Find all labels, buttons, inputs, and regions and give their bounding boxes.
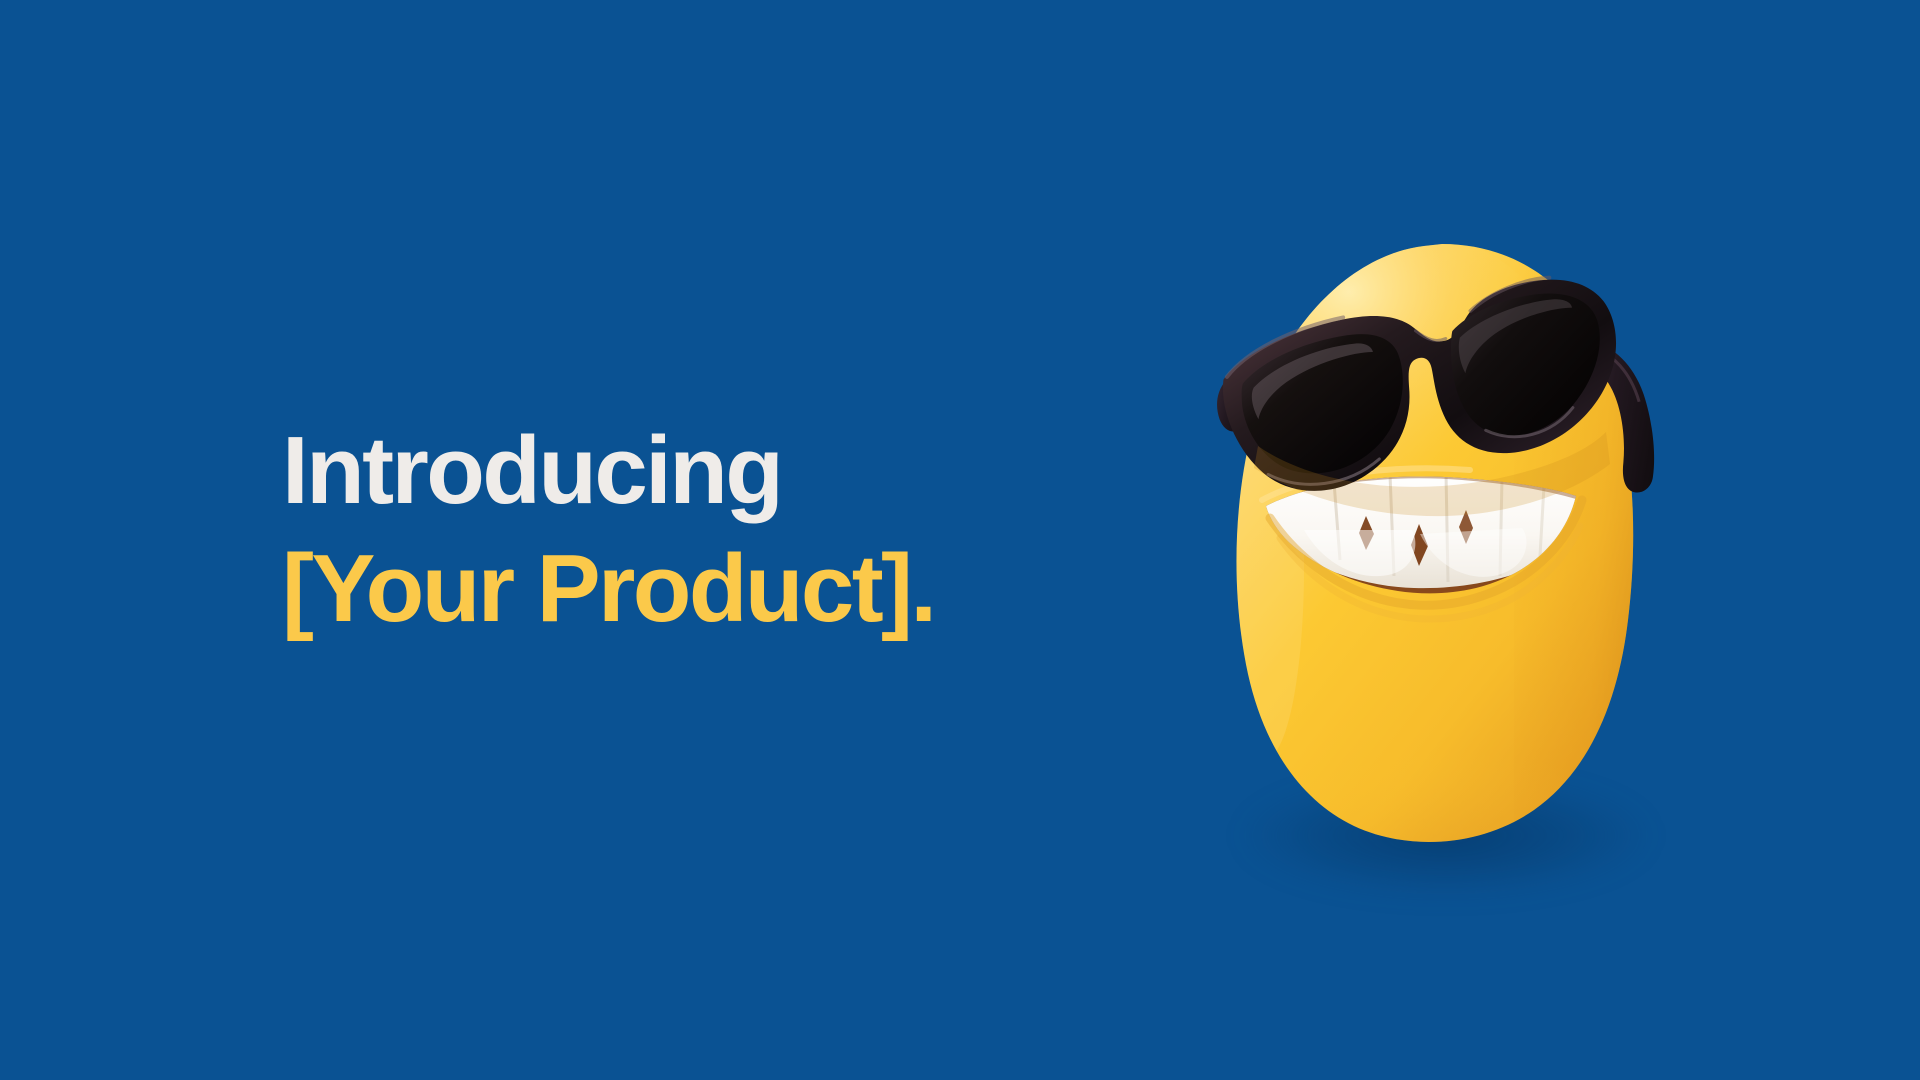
emoji-illustration <box>1214 238 1674 858</box>
smiling-face-with-sunglasses-icon <box>1214 238 1674 858</box>
headline-line-product: [Your Product]. <box>282 530 1182 648</box>
headline-line-primary: Introducing <box>282 412 1182 530</box>
headline-block: Introducing [Your Product]. <box>282 412 1182 648</box>
slide-canvas: Introducing [Your Product]. <box>0 0 1920 1080</box>
